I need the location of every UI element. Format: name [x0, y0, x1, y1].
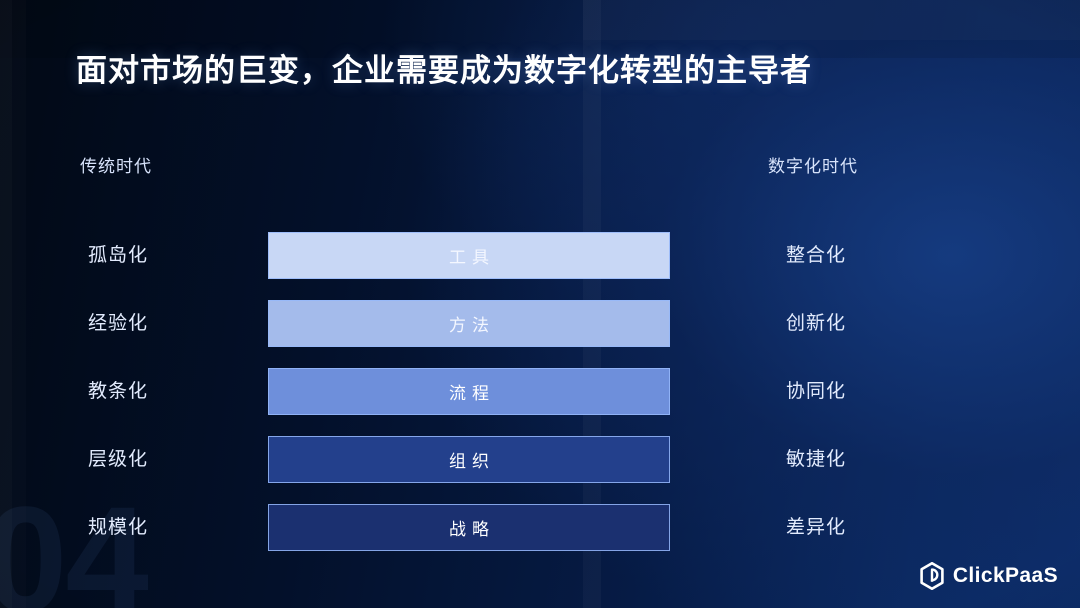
layer-bar-label: 战略	[443, 515, 495, 540]
layer-bar[interactable]: 战略	[268, 504, 670, 551]
table-row: 规模化战略差异化	[0, 504, 1080, 551]
table-row: 教条化流程协同化	[0, 368, 1080, 415]
digital-era-label: 创新化	[786, 300, 846, 347]
layer-bar-label: 方法	[443, 311, 495, 336]
layer-bar[interactable]: 工具	[268, 232, 670, 279]
digital-era-label: 敏捷化	[786, 436, 846, 483]
traditional-era-label: 层级化	[88, 436, 148, 483]
traditional-era-label: 规模化	[88, 504, 148, 551]
digital-era-label: 协同化	[786, 368, 846, 415]
traditional-era-label: 孤岛化	[88, 232, 148, 279]
slide-canvas: 04 面对市场的巨变，企业需要成为数字化转型的主导者 传统时代 数字化时代 孤岛…	[0, 0, 1080, 608]
layer-bar[interactable]: 方法	[268, 300, 670, 347]
table-row: 经验化方法创新化	[0, 300, 1080, 347]
comparison-rows: 孤岛化工具整合化经验化方法创新化教条化流程协同化层级化组织敏捷化规模化战略差异化	[0, 0, 1080, 608]
layer-bar[interactable]: 组织	[268, 436, 670, 483]
layer-bar[interactable]: 流程	[268, 368, 670, 415]
traditional-era-label: 经验化	[88, 300, 148, 347]
digital-era-label: 差异化	[786, 504, 846, 551]
traditional-era-label: 教条化	[88, 368, 148, 415]
layer-bar-label: 流程	[443, 379, 495, 404]
table-row: 层级化组织敏捷化	[0, 436, 1080, 483]
table-row: 孤岛化工具整合化	[0, 232, 1080, 279]
digital-era-label: 整合化	[786, 232, 846, 279]
hexagon-logo-icon	[919, 562, 945, 590]
brand-logo-text: ClickPaaS	[953, 564, 1058, 588]
brand-logo: ClickPaaS	[919, 562, 1058, 590]
layer-bar-label: 工具	[443, 243, 495, 268]
layer-bar-label: 组织	[443, 447, 495, 472]
